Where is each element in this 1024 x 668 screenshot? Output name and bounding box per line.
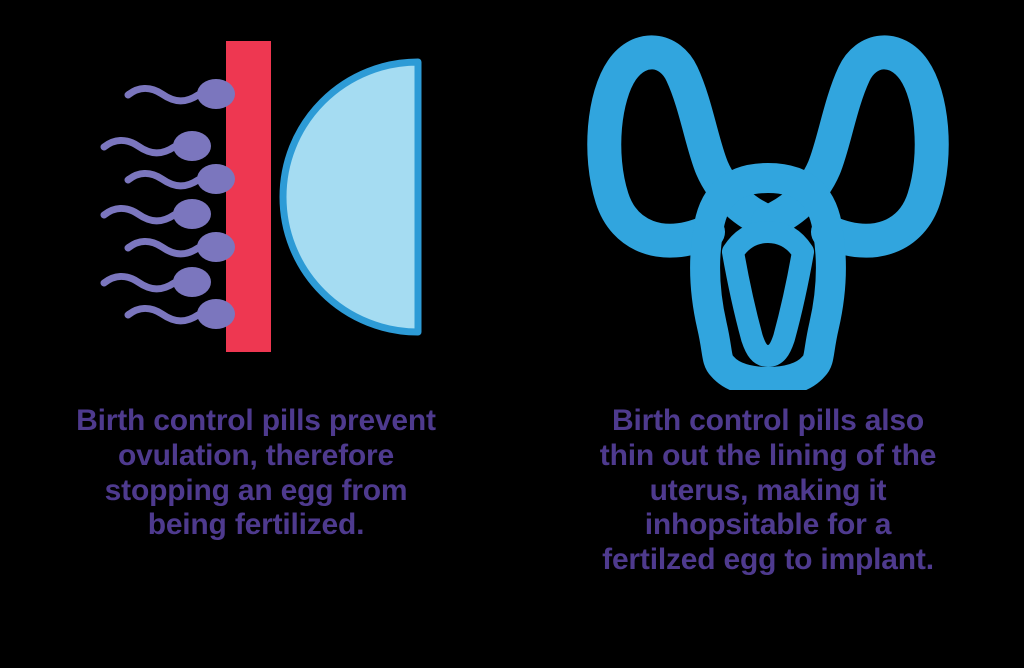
sperm-cell xyxy=(104,267,211,297)
sperm-cell xyxy=(128,299,235,329)
egg-half-circle xyxy=(283,62,418,332)
ovulation-caption: Birth control pills prevent ovulation, t… xyxy=(0,404,512,543)
uterus-icon xyxy=(604,52,931,382)
sperm-cell xyxy=(128,79,235,109)
sperm-barrier-egg-illustration xyxy=(0,0,512,390)
sperm-cell xyxy=(128,164,235,194)
sperm-cell xyxy=(104,131,211,161)
infographic-root: Birth control pills prevent ovulation, t… xyxy=(0,0,1024,668)
uterine-lining-panel: Birth control pills also thin out the li… xyxy=(512,0,1024,668)
sperm-cell xyxy=(128,232,235,262)
uterus-illustration xyxy=(512,0,1024,390)
sperm-cells xyxy=(104,79,235,329)
uterine-lining-caption: Birth control pills also thin out the li… xyxy=(512,404,1024,578)
ovulation-panel: Birth control pills prevent ovulation, t… xyxy=(0,0,512,668)
sperm-cell xyxy=(104,199,211,229)
